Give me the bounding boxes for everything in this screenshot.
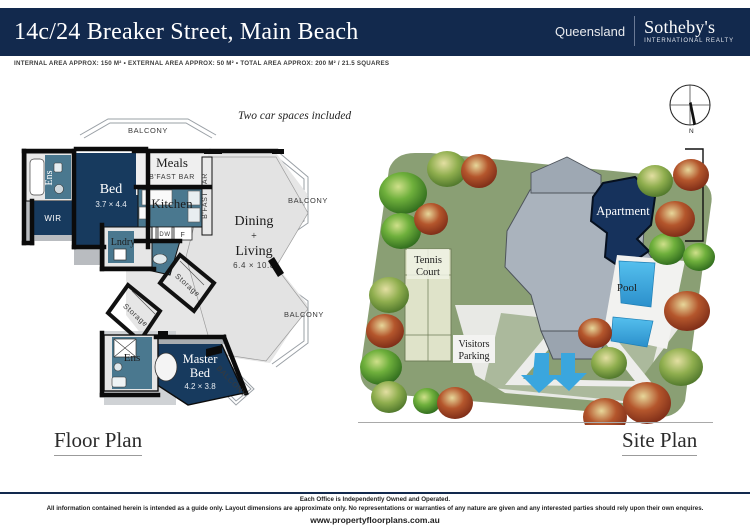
svg-text:DW: DW <box>159 232 170 238</box>
site-label-pool: Pool <box>617 282 637 294</box>
svg-text:Ens: Ens <box>44 170 55 185</box>
svg-text:WIR: WIR <box>44 214 61 223</box>
svg-text:BALCONY: BALCONY <box>284 310 324 319</box>
brand-subtitle: INTERNATIONAL REALTY <box>644 38 734 44</box>
site-plan-title: Site Plan <box>622 428 697 456</box>
footer-line-1: Each Office is Independently Owned and O… <box>0 496 750 503</box>
area-summary: INTERNAL AREA APPROX: 150 M² • EXTERNAL … <box>14 60 389 67</box>
floor-plan-drawing: Bed 3.7 × 4.4 Ens WIR Meals B'FAST BAR K… <box>8 105 348 420</box>
svg-text:Kitchen: Kitchen <box>151 196 193 211</box>
svg-text:Meals: Meals <box>156 155 188 170</box>
svg-text:B'FAST BAR: B'FAST BAR <box>149 174 195 181</box>
svg-text:B'FAST BAR: B'FAST BAR <box>202 173 209 219</box>
svg-text:Ens: Ens <box>124 352 141 364</box>
svg-text:Bed: Bed <box>100 182 123 197</box>
floor-plan-title: Floor Plan <box>54 428 142 456</box>
site-label-parking-2: Parking <box>458 351 489 362</box>
compass-rose: N <box>664 80 720 136</box>
svg-text:4.2 × 3.8: 4.2 × 3.8 <box>184 382 216 391</box>
svg-text:3.7 × 4.4: 3.7 × 4.4 <box>95 200 127 209</box>
svg-text:BALCONY: BALCONY <box>128 126 168 135</box>
site-label-tennis-1: Tennis <box>414 255 442 266</box>
svg-text:F: F <box>181 232 186 239</box>
svg-text:Lndry: Lndry <box>111 237 135 248</box>
footer: Each Office is Independently Owned and O… <box>0 496 750 525</box>
svg-text:BALCONY: BALCONY <box>288 196 328 205</box>
svg-text:Living: Living <box>235 244 272 259</box>
title-bar: 14c/24 Breaker Street, Main Beach Queens… <box>0 8 750 56</box>
site-label-tennis-2: Court <box>416 267 440 278</box>
svg-text:+: + <box>251 231 257 242</box>
footer-rule <box>0 492 750 494</box>
svg-text:6.4 × 10.8: 6.4 × 10.8 <box>233 261 275 270</box>
svg-text:Bed: Bed <box>190 366 211 380</box>
svg-text:Dining: Dining <box>235 214 274 229</box>
site-plan-rule <box>358 422 713 423</box>
brand-sothebys: Sotheby's INTERNATIONAL REALTY <box>635 18 734 44</box>
site-label-parking-1: Visitors <box>458 339 489 350</box>
brand-name: Sotheby's <box>644 18 734 36</box>
site-plan-drawing: Apartment Pool Tennis Court Visitors Par… <box>355 135 715 430</box>
site-label-apartment: Apartment <box>596 204 650 218</box>
page-title: 14c/24 Breaker Street, Main Beach <box>14 19 358 46</box>
brand-region: Queensland <box>555 24 634 39</box>
compass-north-label: N <box>689 128 694 135</box>
footer-website[interactable]: www.propertyfloorplans.com.au <box>0 515 750 525</box>
footer-line-2: All information contained herein is inte… <box>0 505 750 512</box>
brand-lockup: Queensland Sotheby's INTERNATIONAL REALT… <box>555 16 734 46</box>
